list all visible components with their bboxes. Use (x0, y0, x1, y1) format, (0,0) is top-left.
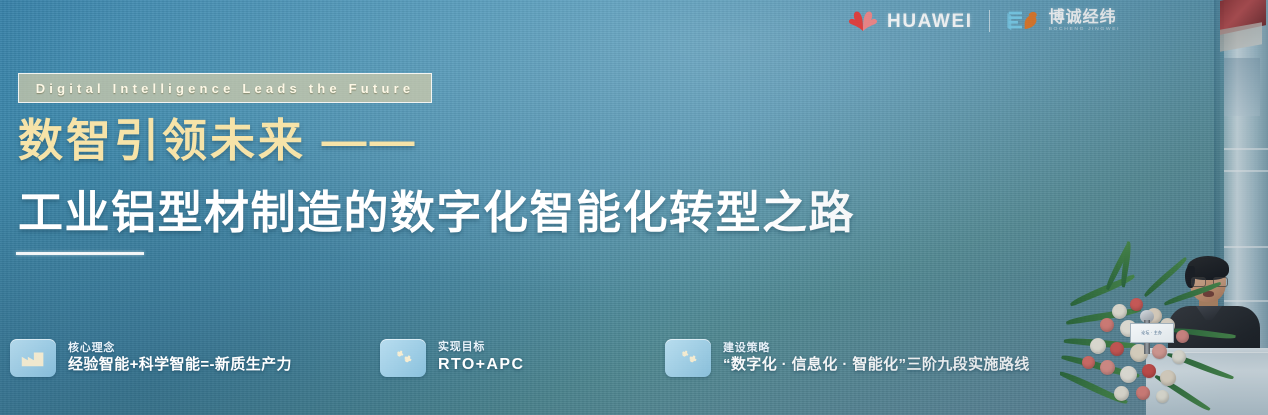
gears-icon (665, 339, 711, 377)
feature-item-core-concept: 核心理念 经验智能+科学智能=-新质生产力 (10, 332, 292, 384)
feature-label: 实现目标 (438, 340, 524, 354)
title-underline-rule (16, 252, 144, 255)
feature-text: 建设策略 “数字化 · 信息化 · 智能化”三阶九段实施路线 (723, 341, 1030, 376)
feature-value: RTO+APC (438, 354, 524, 376)
presentation-screenshot: HUAWEI 博诚经纬 BOCHENG JINGWEI (0, 0, 1268, 415)
feature-label: 建设策略 (723, 341, 1030, 355)
feature-item-goal: 实现目标 RTO+APC (380, 332, 524, 384)
gears-icon (380, 339, 426, 377)
flower-arrangement (1060, 0, 1268, 415)
feature-text: 实现目标 RTO+APC (438, 340, 524, 376)
feature-strip: 核心理念 经验智能+科学智能=-新质生产力 实现目标 RTO+APC (0, 332, 1060, 390)
slide-title-line1: 数智引领未来 —— (18, 118, 418, 163)
huawei-wordmark: HUAWEI (887, 12, 973, 31)
slide-title-line2: 工业铝型材制造的数字化智能化转型之路 (18, 190, 855, 235)
huawei-logo: HUAWEI (848, 10, 973, 32)
stage-right-area: 论坛 · 主办 (1060, 0, 1268, 415)
feature-item-strategy: 建设策略 “数字化 · 信息化 · 智能化”三阶九段实施路线 (665, 332, 1030, 384)
english-tagline: Digital Intelligence Leads the Future (36, 81, 415, 96)
factory-glyph (20, 349, 46, 368)
gears-glyph (674, 348, 702, 368)
logo-separator (989, 10, 990, 32)
microphone-flag-label: 论坛 · 主办 (1141, 330, 1162, 335)
feature-text: 核心理念 经验智能+科学智能=-新质生产力 (68, 341, 292, 376)
feature-label: 核心理念 (68, 341, 292, 355)
bocheng-jingwei-icon (1006, 9, 1042, 33)
english-tagline-box: Digital Intelligence Leads the Future (18, 73, 432, 103)
feature-value: “数字化 · 信息化 · 智能化”三阶九段实施路线 (723, 355, 1030, 375)
huawei-petal-icon (848, 10, 878, 32)
factory-icon (10, 339, 56, 377)
feature-value: 经验智能+科学智能=-新质生产力 (68, 355, 292, 375)
microphone-flag: 论坛 · 主办 (1130, 323, 1174, 343)
gears-glyph (389, 348, 417, 368)
